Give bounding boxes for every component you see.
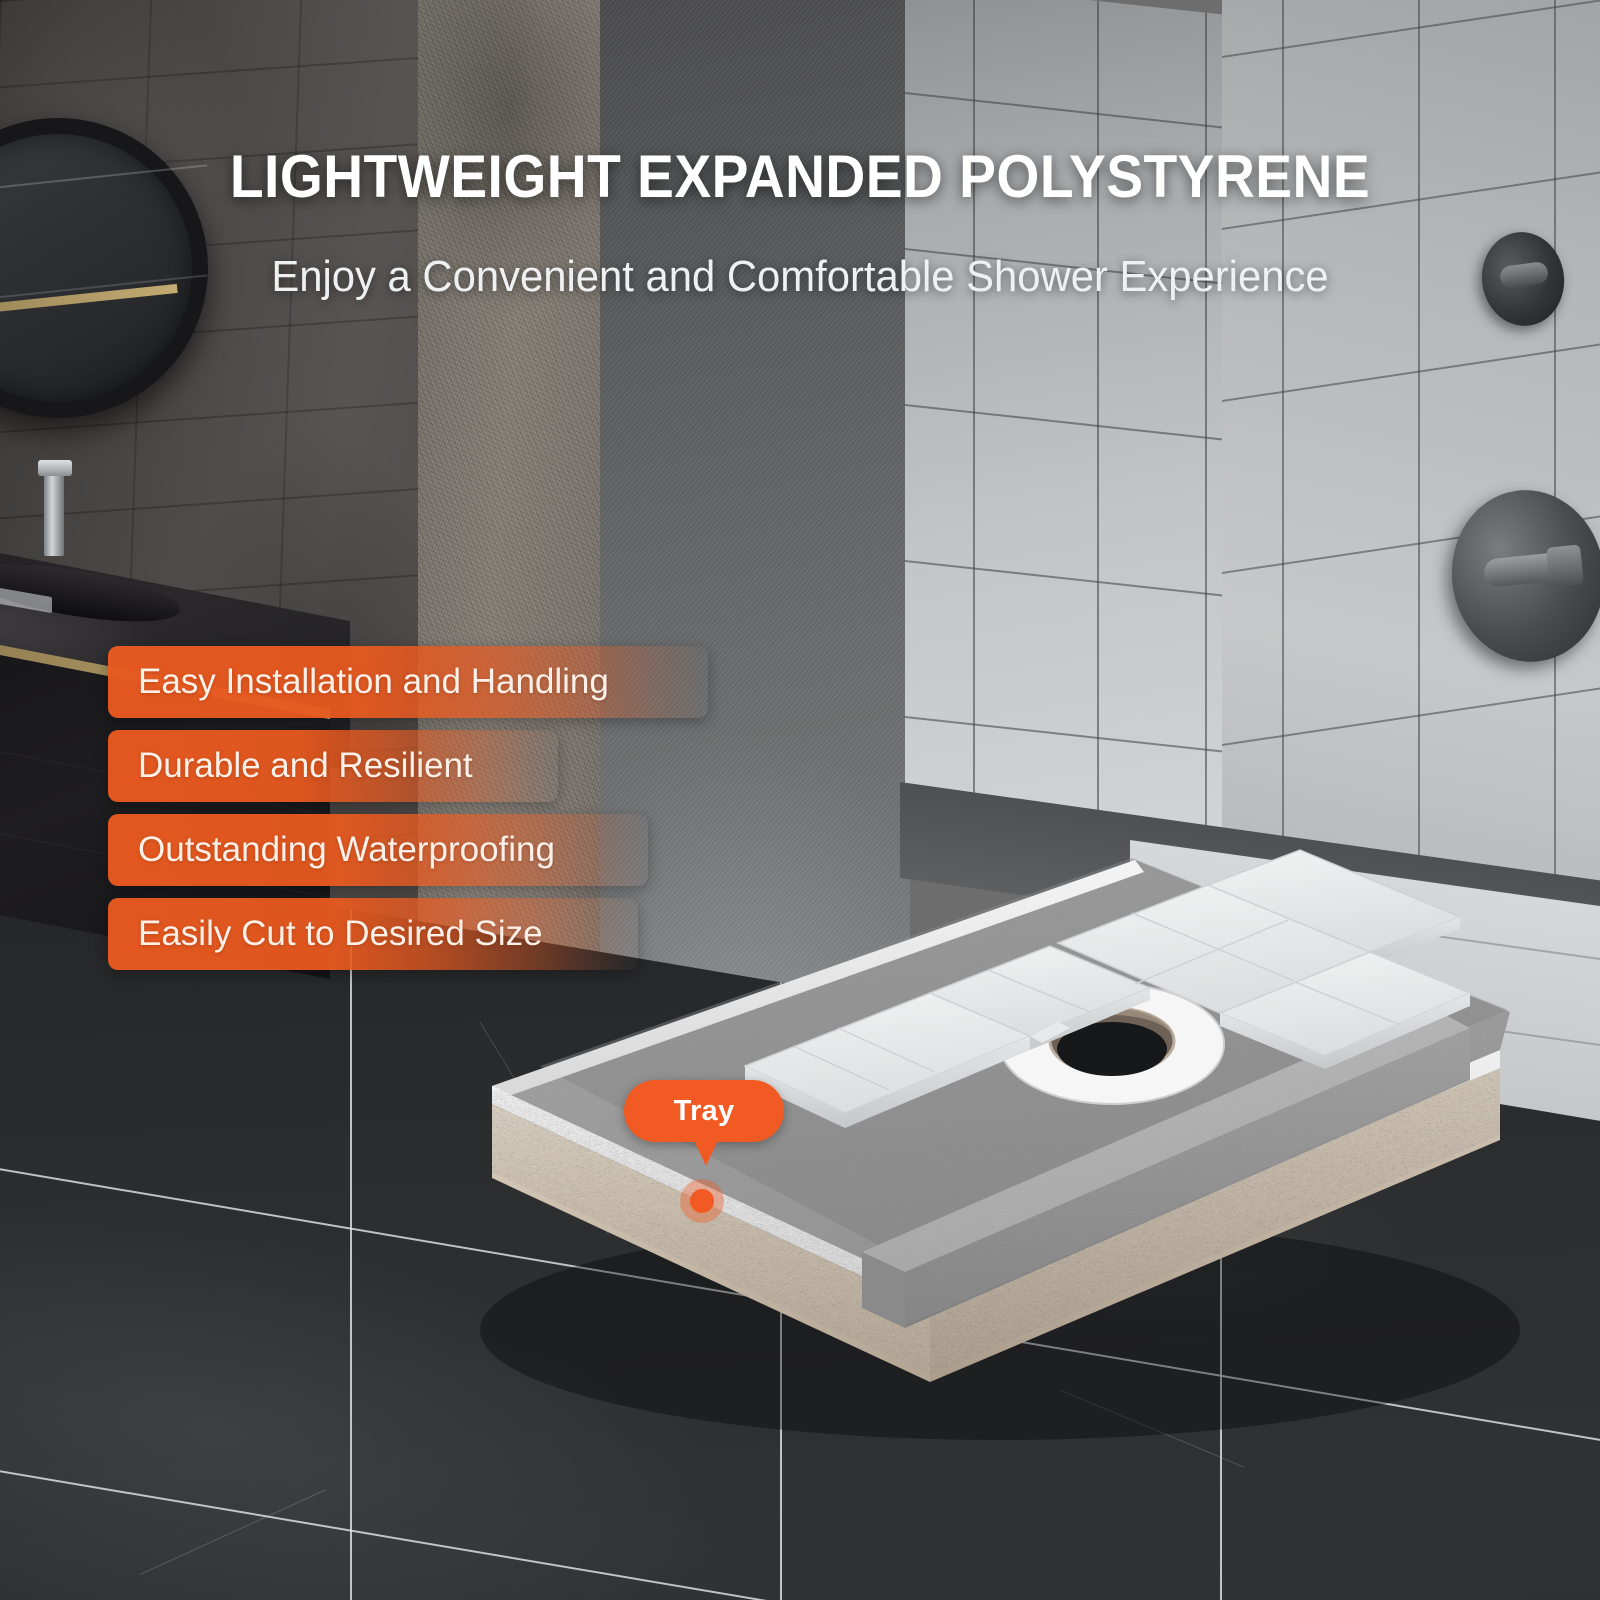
feature-chip: Durable and Resilient xyxy=(108,730,558,802)
faucet-spout xyxy=(38,460,72,476)
feature-list: Easy Installation and Handling Durable a… xyxy=(108,646,748,982)
hotspot-dot-icon xyxy=(690,1189,714,1213)
faucet-body xyxy=(44,470,64,556)
callout-bubble: Tray xyxy=(624,1080,784,1142)
product-banner: LIGHTWEIGHT EXPANDED POLYSTYRENE Enjoy a… xyxy=(0,0,1600,1600)
page-subtitle: Enjoy a Convenient and Comfortable Showe… xyxy=(40,252,1560,302)
tray-callout: Tray xyxy=(624,1080,784,1142)
feature-label: Easily Cut to Desired Size xyxy=(108,914,543,954)
feature-chip: Easily Cut to Desired Size xyxy=(108,898,638,970)
page-title: LIGHTWEIGHT EXPANDED POLYSTYRENE xyxy=(64,142,1536,211)
callout-pointer-icon xyxy=(692,1136,720,1166)
callout-label: Tray xyxy=(674,1095,735,1128)
feature-chip: Easy Installation and Handling xyxy=(108,646,708,718)
feature-chip: Outstanding Waterproofing xyxy=(108,814,648,886)
feature-label: Durable and Resilient xyxy=(108,746,473,786)
shower-valve-cap xyxy=(1546,544,1584,587)
feature-label: Outstanding Waterproofing xyxy=(108,830,555,870)
shower-back-wall-tiles xyxy=(905,0,1225,875)
feature-label: Easy Installation and Handling xyxy=(108,662,609,702)
